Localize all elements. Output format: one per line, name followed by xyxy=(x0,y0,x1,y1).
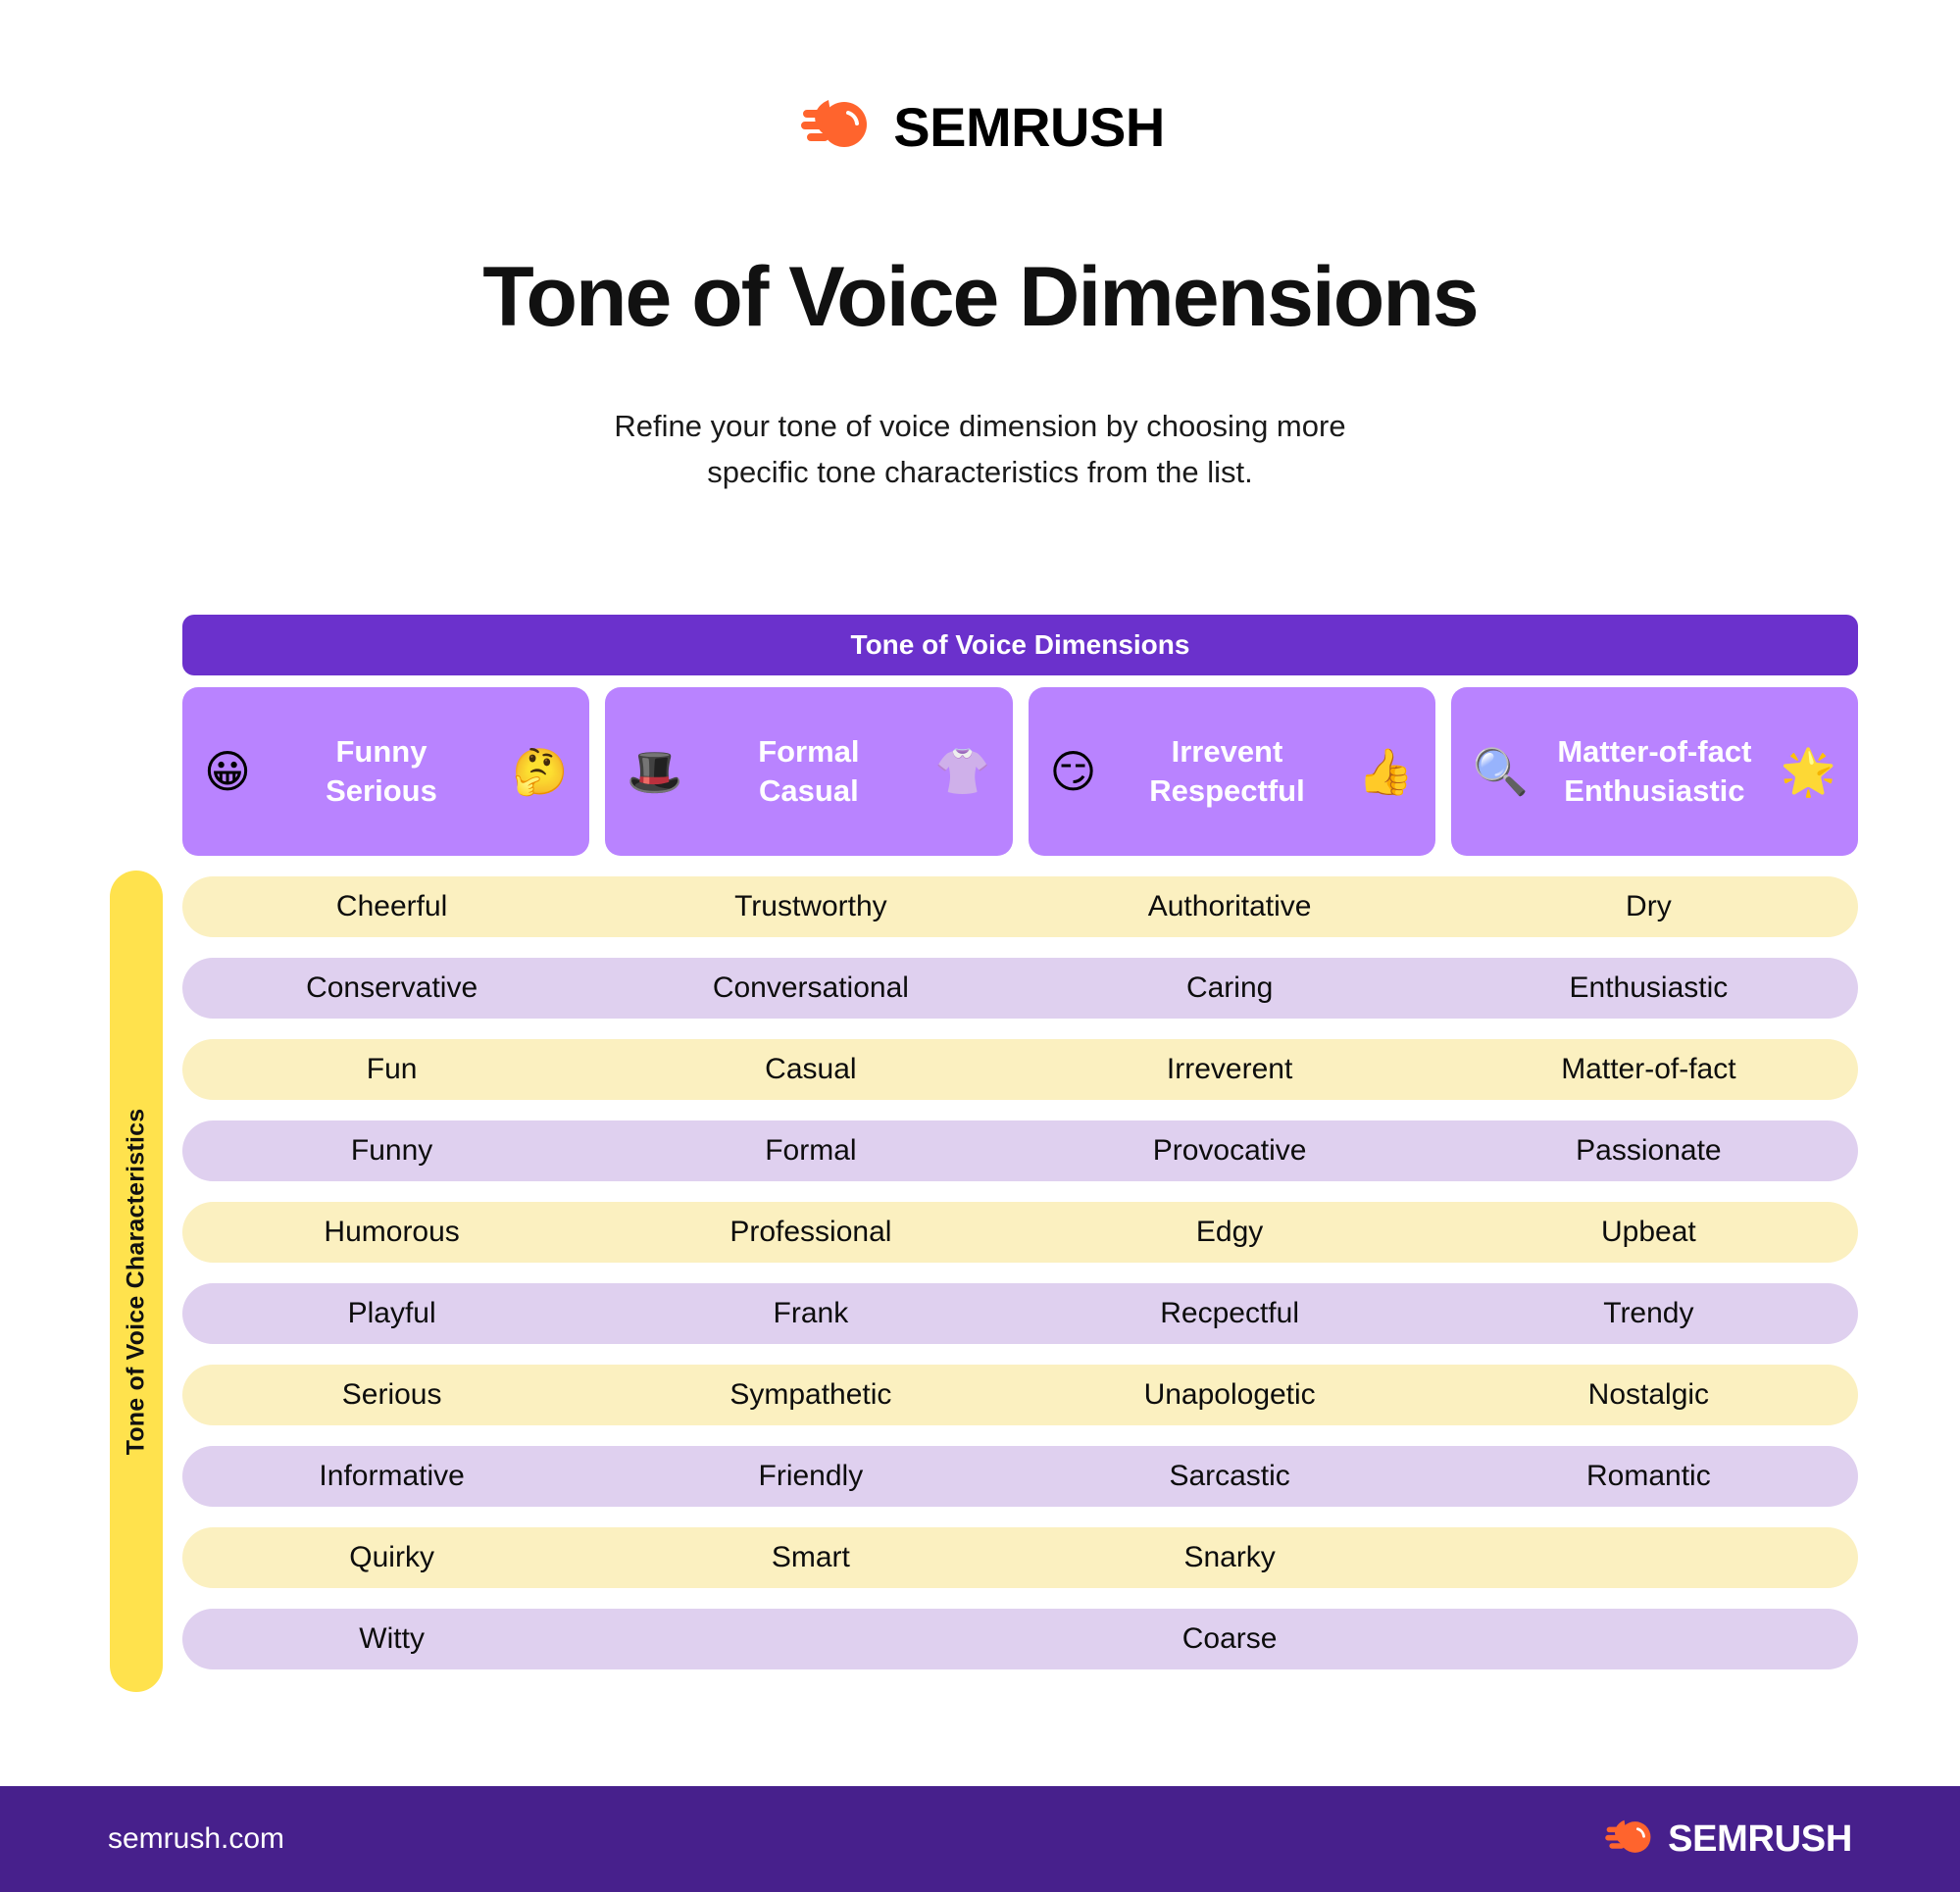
dimension-label-line-1: Matter-of-fact xyxy=(1557,734,1751,769)
footer-brand-logo: SEMRUSH xyxy=(1601,1817,1852,1862)
dimension-card-irrevent-respectful[interactable]: 😏 Irrevent Respectful 👍 xyxy=(1029,687,1435,856)
characteristics-table: Cheerful Trustworthy Authoritative Dry C… xyxy=(182,876,1858,1690)
table-cell: Fun xyxy=(182,1053,601,1086)
table-cell: Recpectful xyxy=(1021,1297,1439,1330)
table-cell: Cheerful xyxy=(182,890,601,923)
infographic-page: SEMRUSH Tone of Voice Dimensions Refine … xyxy=(0,0,1960,1892)
magnifying-glass-icon: 🔍 xyxy=(1473,749,1529,794)
table-cell: Funny xyxy=(182,1134,601,1168)
table-cell: Friendly xyxy=(601,1460,1020,1493)
table-cell: Snarky xyxy=(1021,1541,1439,1574)
dimension-label-line-1: Irrevent xyxy=(1172,734,1283,769)
table-cell: Authoritative xyxy=(1021,890,1439,923)
dimension-label-line-2: Respectful xyxy=(1149,773,1304,808)
dimension-label-line-1: Funny xyxy=(335,734,427,769)
table-row: Witty Coarse xyxy=(182,1609,1858,1669)
dimension-label-line-1: Formal xyxy=(758,734,859,769)
footer-brand-wordmark: SEMRUSH xyxy=(1668,1820,1852,1858)
thumbs-up-icon: 👍 xyxy=(1357,749,1413,794)
blouse-icon: 👚 xyxy=(934,749,990,794)
table-cell: Upbeat xyxy=(1439,1216,1858,1249)
table-cell: Humorous xyxy=(182,1216,601,1249)
table-row: Serious Sympathetic Unapologetic Nostalg… xyxy=(182,1365,1858,1425)
table-cell: Quirky xyxy=(182,1541,601,1574)
dimension-card-funny-serious[interactable]: 😀 Funny Serious 🤔 xyxy=(182,687,589,856)
glowing-star-icon: 🌟 xyxy=(1781,749,1836,794)
tone-of-voice-diagram: Tone of Voice Dimensions 😀 Funny Serious… xyxy=(0,0,1960,1892)
table-row: Fun Casual Irreverent Matter-of-fact xyxy=(182,1039,1858,1100)
table-cell: Dry xyxy=(1439,890,1858,923)
table-row: Humorous Professional Edgy Upbeat xyxy=(182,1202,1858,1263)
table-cell: Enthusiastic xyxy=(1439,971,1858,1005)
table-cell: Frank xyxy=(601,1297,1020,1330)
table-cell: Unapologetic xyxy=(1021,1378,1439,1412)
table-cell: Matter-of-fact xyxy=(1439,1053,1858,1086)
dimension-card-labels: Matter-of-fact Enthusiastic xyxy=(1529,732,1781,810)
table-cell: Sarcastic xyxy=(1021,1460,1439,1493)
table-cell: Edgy xyxy=(1021,1216,1439,1249)
table-cell: Conservative xyxy=(182,971,601,1005)
table-cell: Romantic xyxy=(1439,1460,1858,1493)
table-cell: Passionate xyxy=(1439,1134,1858,1168)
table-row: Quirky Smart Snarky xyxy=(182,1527,1858,1588)
table-cell: Smart xyxy=(601,1541,1020,1574)
table-cell: Conversational xyxy=(601,971,1020,1005)
dimension-label-line-2: Serious xyxy=(326,773,437,808)
dimensions-band-title: Tone of Voice Dimensions xyxy=(182,615,1858,675)
table-cell: Playful xyxy=(182,1297,601,1330)
table-cell: Provocative xyxy=(1021,1134,1439,1168)
table-cell: Witty xyxy=(182,1622,601,1656)
table-row: Funny Formal Provocative Passionate xyxy=(182,1120,1858,1181)
table-cell: Trendy xyxy=(1439,1297,1858,1330)
table-row: Playful Frank Recpectful Trendy xyxy=(182,1283,1858,1344)
dimension-card-labels: Irrevent Respectful xyxy=(1096,732,1357,810)
page-footer: semrush.com SEMRUSH xyxy=(0,1786,1960,1892)
dimension-card-formal-casual[interactable]: 🎩 Formal Casual 👚 xyxy=(605,687,1012,856)
table-cell: Informative xyxy=(182,1460,601,1493)
table-cell: Coarse xyxy=(1021,1622,1439,1656)
dimension-card-matteroffact-enthusiastic[interactable]: 🔍 Matter-of-fact Enthusiastic 🌟 xyxy=(1451,687,1858,856)
footer-website-link[interactable]: semrush.com xyxy=(108,1822,284,1856)
table-row: Informative Friendly Sarcastic Romantic xyxy=(182,1446,1858,1507)
table-row: Cheerful Trustworthy Authoritative Dry xyxy=(182,876,1858,937)
table-cell: Nostalgic xyxy=(1439,1378,1858,1412)
semrush-comet-logo-icon xyxy=(1601,1817,1654,1862)
table-cell: Casual xyxy=(601,1053,1020,1086)
table-cell: Professional xyxy=(601,1216,1020,1249)
dimension-card-labels: Funny Serious xyxy=(251,732,512,810)
table-row: Conservative Conversational Caring Enthu… xyxy=(182,958,1858,1019)
table-cell: Serious xyxy=(182,1378,601,1412)
dimension-label-line-2: Enthusiastic xyxy=(1564,773,1744,808)
table-cell: Trustworthy xyxy=(601,890,1020,923)
table-cell: Irreverent xyxy=(1021,1053,1439,1086)
smirking-face-icon: 😏 xyxy=(1050,749,1097,794)
thinking-face-icon: 🤔 xyxy=(512,749,568,794)
top-hat-icon: 🎩 xyxy=(627,749,682,794)
characteristics-axis-text: Tone of Voice Characteristics xyxy=(123,1108,151,1455)
grinning-face-icon: 😀 xyxy=(204,749,251,794)
characteristics-axis-label: Tone of Voice Characteristics xyxy=(110,871,163,1692)
table-cell: Caring xyxy=(1021,971,1439,1005)
dimension-card-labels: Formal Casual xyxy=(683,732,935,810)
table-cell: Formal xyxy=(601,1134,1020,1168)
table-cell: Sympathetic xyxy=(601,1378,1020,1412)
dimension-cards: 😀 Funny Serious 🤔 🎩 Formal Casual 👚 😏 xyxy=(182,687,1858,856)
dimension-label-line-2: Casual xyxy=(759,773,859,808)
